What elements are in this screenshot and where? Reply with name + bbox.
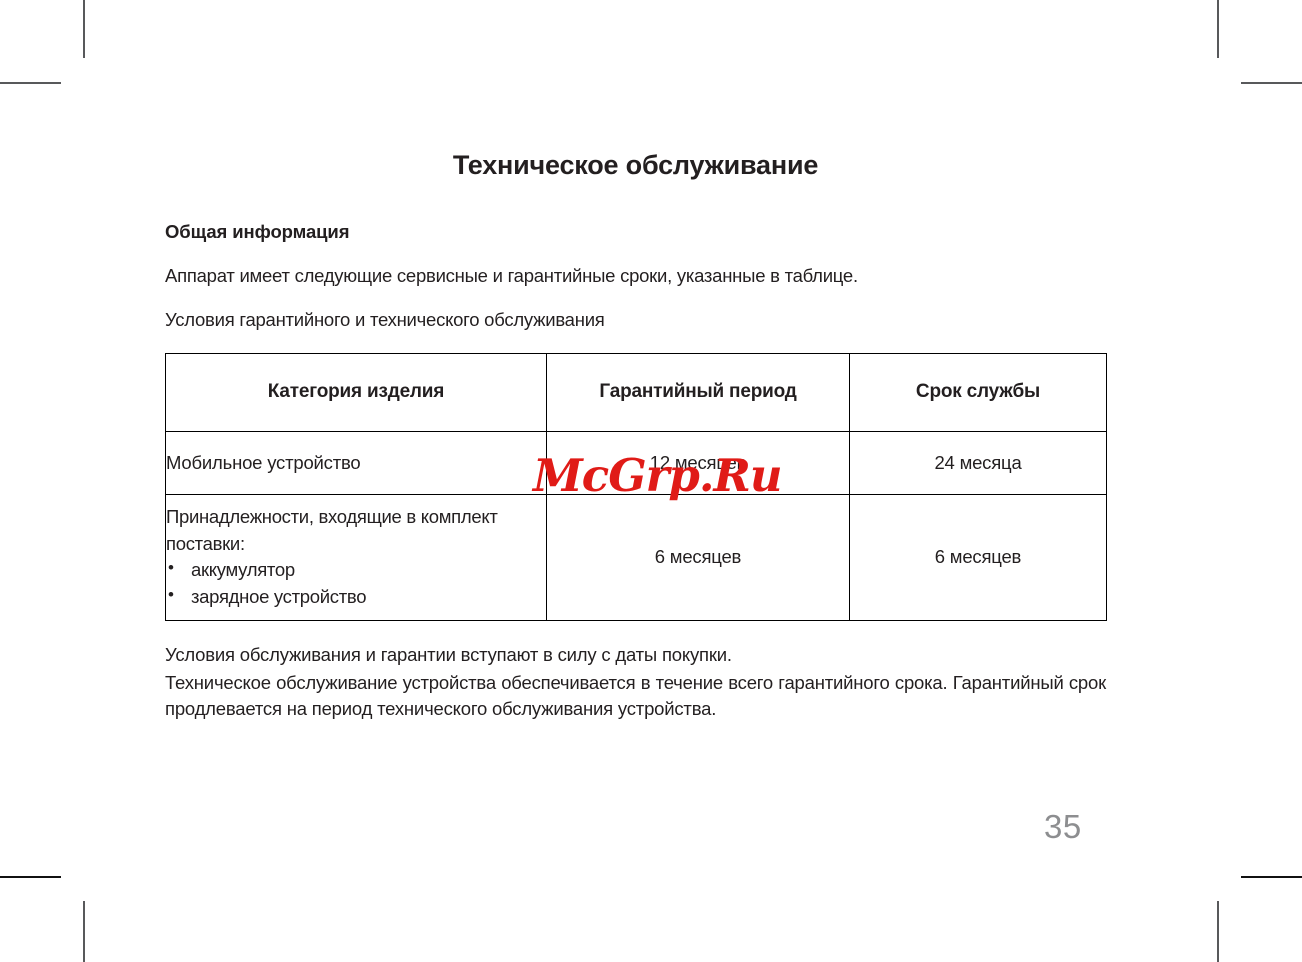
cell-service-life-accessories: 6 месяцев [850,494,1107,620]
accessories-bullet-list: аккумулятор зарядное устройство [166,557,546,611]
crop-mark-top-right-horizontal [1241,82,1302,84]
cell-service-life-mobile-device: 24 месяца [850,431,1107,494]
document-page: Техническое обслуживание Общая информаци… [0,0,1302,962]
table-row: Принадлежности, входящие в комплект пост… [166,494,1107,620]
crop-mark-top-left-vertical [83,0,85,58]
crop-mark-bottom-right-vertical [1217,901,1219,962]
crop-mark-bottom-right-horizontal [1241,876,1302,878]
cell-category-accessories-lead: Принадлежности, входящие в комплект пост… [166,504,546,558]
crop-mark-top-right-vertical [1217,0,1219,58]
table-header-warranty: Гарантийный период [547,353,850,431]
cell-warranty-accessories: 6 месяцев [547,494,850,620]
list-item: зарядное устройство [166,584,546,611]
cell-category-accessories: Принадлежности, входящие в комплект пост… [166,494,547,620]
list-item: аккумулятор [166,557,546,584]
closing-text-block: Условия обслуживания и гарантии вступают… [165,642,1106,723]
section-heading-general-info: Общая информация [165,221,1106,243]
crop-mark-bottom-left-vertical [83,901,85,962]
cell-warranty-mobile-device: 12 месяцев [547,431,850,494]
closing-paragraph: Техническое обслуживание устройства обес… [165,670,1106,723]
crop-mark-bottom-left-horizontal [0,876,61,878]
page-title: Техническое обслуживание [165,150,1106,181]
warranty-table: Категория изделия Гарантийный период Сро… [165,353,1107,621]
crop-mark-top-left-horizontal [0,82,61,84]
table-header-service-life: Срок службы [850,353,1107,431]
cell-category-mobile-device: Мобильное устройство [166,431,547,494]
table-header-row: Категория изделия Гарантийный период Сро… [166,353,1107,431]
page-content: Техническое обслуживание Общая информаци… [165,150,1106,723]
table-header-category: Категория изделия [166,353,547,431]
closing-line-1: Условия обслуживания и гарантии вступают… [165,642,1106,668]
table-caption: Условия гарантийного и технического обсл… [165,308,1106,332]
table-row: Мобильное устройство 12 месяцев 24 месяц… [166,431,1107,494]
page-number: 35 [1044,808,1082,846]
intro-paragraph: Аппарат имеет следующие сервисные и гара… [165,264,1106,288]
